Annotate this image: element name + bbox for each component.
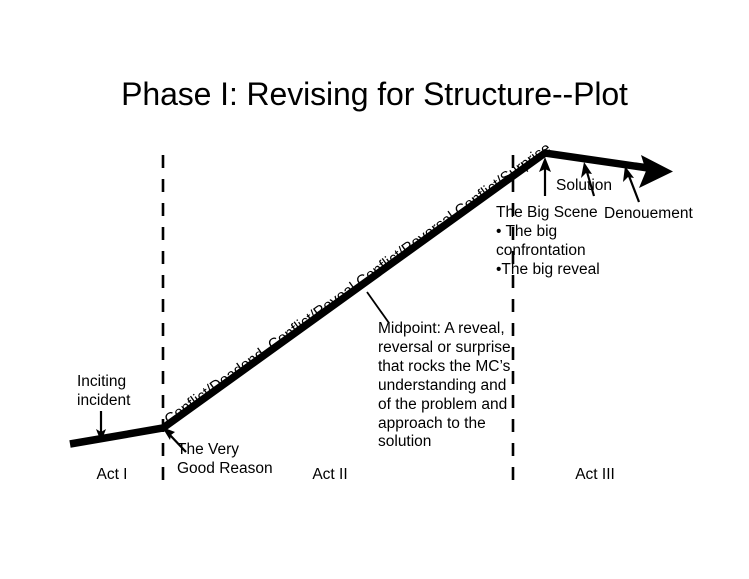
- solution-arrow-icon: [581, 162, 592, 178]
- midpoint-leader: [367, 292, 389, 323]
- annotation-inciting-incident: Inciting incident: [77, 373, 187, 411]
- annotation-very-good-reason: The Very Good Reason: [177, 441, 297, 479]
- annotation-denouement: Denouement: [604, 205, 734, 224]
- act-label-2: Act II: [290, 466, 370, 485]
- plot-arc-graphic: [0, 0, 749, 579]
- annotation-solution: Solution: [556, 177, 646, 196]
- slide-canvas: Phase I: Revising for Structure--Plot In…: [0, 0, 749, 579]
- annotation-midpoint: Midpoint: A reveal, reversal or surprise…: [378, 320, 518, 452]
- act-label-1: Act I: [72, 466, 152, 485]
- act-label-3: Act III: [555, 466, 635, 485]
